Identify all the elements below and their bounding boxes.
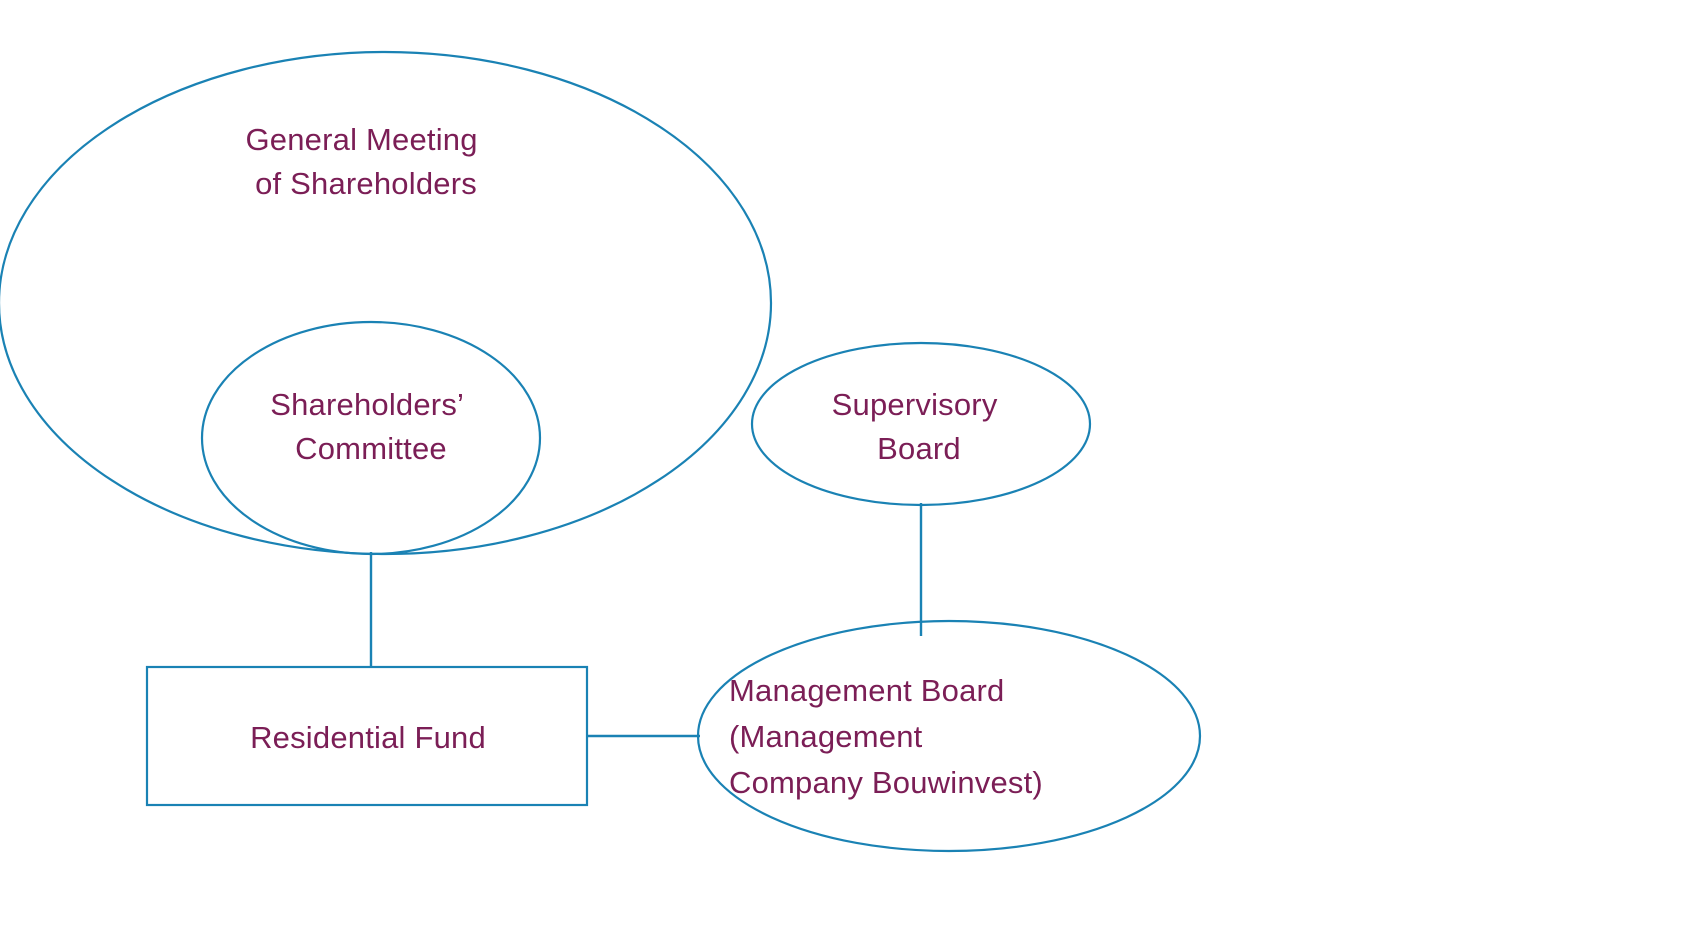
supervisory-board-ellipse[interactable]: [752, 343, 1090, 505]
management-board-line-2: (Management: [729, 719, 923, 754]
supervisory-board-line-1: Supervisory: [832, 387, 998, 422]
org-chart-canvas: General Meeting of Shareholders Sharehol…: [0, 0, 1700, 950]
node-residential-fund[interactable]: Residential Fund: [147, 667, 587, 805]
shareholders-committee-line-2: Committee: [295, 431, 447, 466]
general-meeting-of-shareholders-label: General Meeting of Shareholders: [245, 122, 486, 201]
governance-diagram: General Meeting of Shareholders Sharehol…: [0, 0, 1700, 950]
management-board-line-1: Management Board: [729, 673, 1004, 708]
node-management-board[interactable]: Management Board (Management Company Bou…: [698, 621, 1200, 851]
management-board-label: Management Board (Management Company Bou…: [729, 673, 1043, 800]
node-supervisory-board[interactable]: Supervisory Board: [752, 343, 1090, 505]
node-shareholders-committee[interactable]: Shareholders’ Committee: [202, 322, 540, 554]
shareholders-committee-label: Shareholders’ Committee: [270, 387, 472, 466]
general-meeting-line-1: General Meeting: [245, 122, 477, 157]
general-meeting-line-2: of Shareholders: [255, 166, 477, 201]
residential-fund-label: Residential Fund: [250, 720, 486, 755]
supervisory-board-label: Supervisory Board: [832, 387, 1007, 466]
residential-fund-line-1: Residential Fund: [250, 720, 486, 755]
management-board-line-3: Company Bouwinvest): [729, 765, 1043, 800]
supervisory-board-line-2: Board: [877, 431, 961, 466]
node-general-meeting-of-shareholders[interactable]: General Meeting of Shareholders: [0, 52, 771, 554]
shareholders-committee-line-1: Shareholders’: [270, 387, 463, 422]
